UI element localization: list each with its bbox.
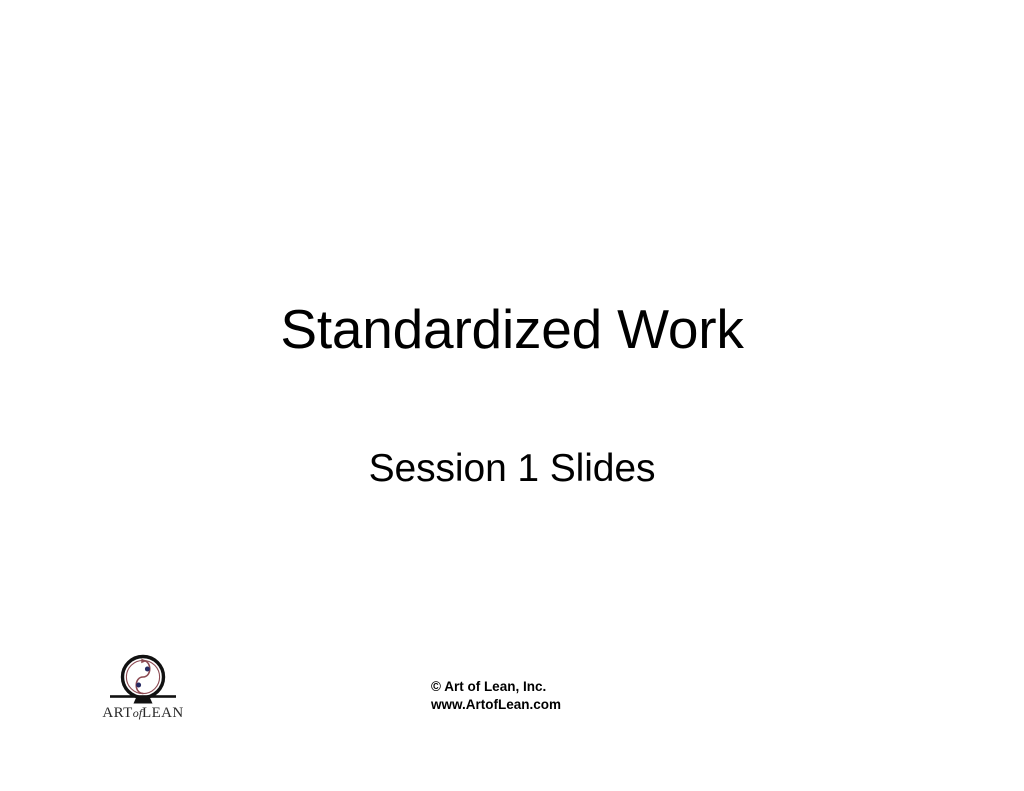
logo-wordmark: ARTofLEAN [97,705,189,722]
subtitle-block: Session 1 Slides [0,448,1024,490]
slide-canvas: Standardized Work Session 1 Slides © Art… [0,0,1024,791]
art-of-lean-logo-icon [97,651,189,707]
footer-block: © Art of Lean, Inc. www.ArtofLean.com [431,678,561,714]
website-text: www.ArtofLean.com [431,696,561,714]
logo-wordmark-art: ART [102,705,132,721]
logo: ARTofLEAN [97,651,189,731]
title-block: Standardized Work [0,300,1024,359]
page-title: Standardized Work [0,300,1024,359]
logo-wordmark-lean: LEAN [142,705,184,721]
copyright-text: © Art of Lean, Inc. [431,678,561,696]
page-subtitle: Session 1 Slides [0,448,1024,490]
logo-wordmark-of: of [133,706,142,720]
